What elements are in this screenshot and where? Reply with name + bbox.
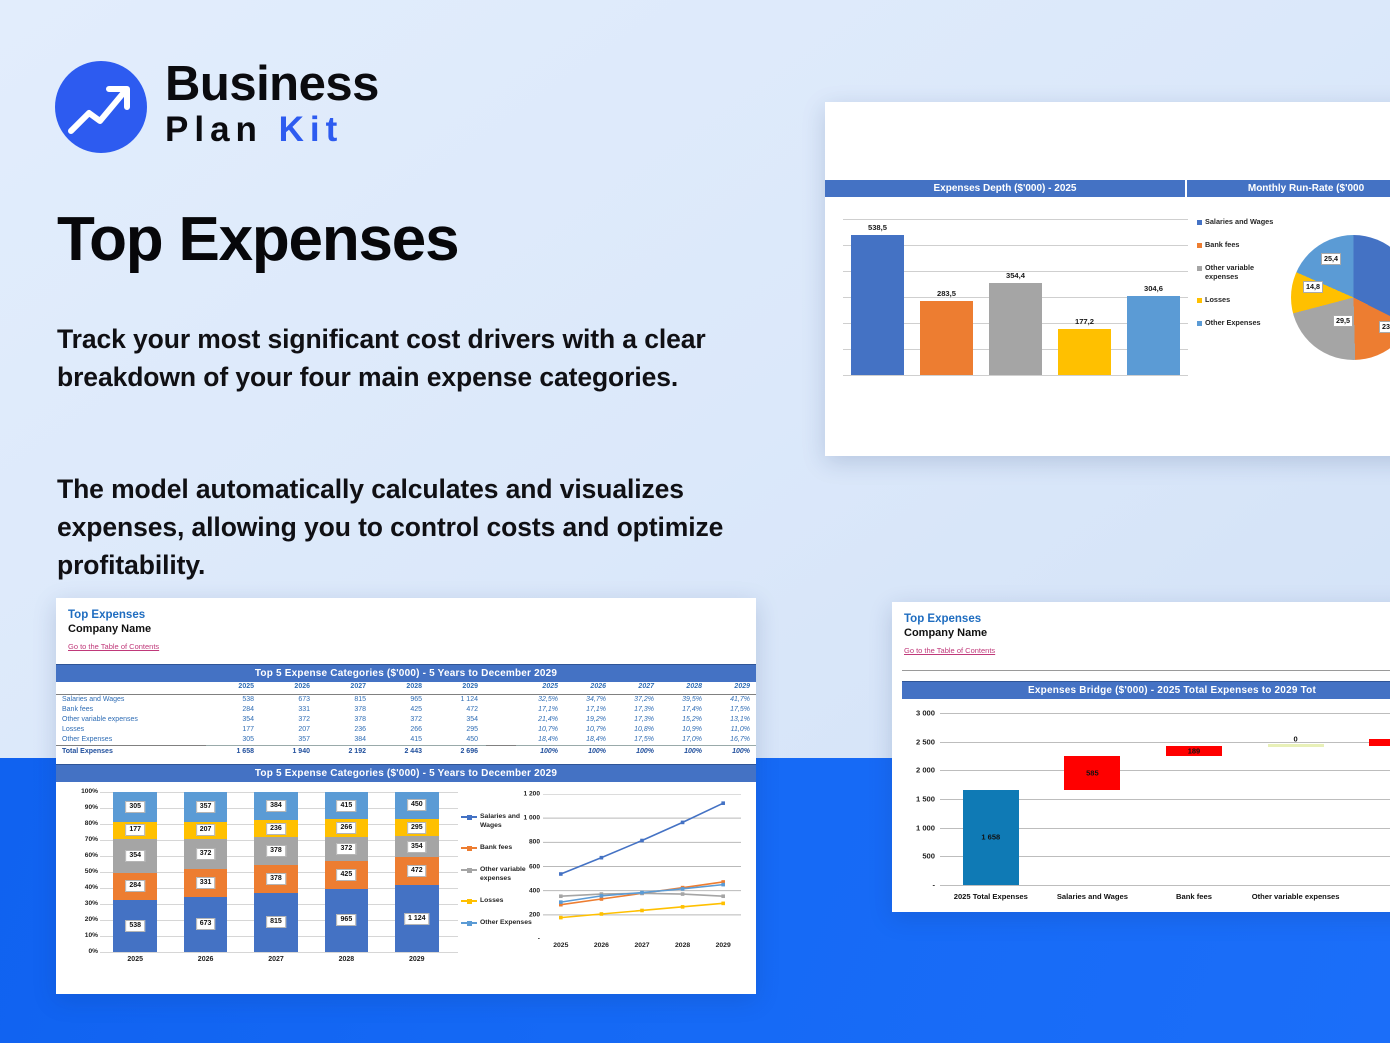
trending-up-arrow-icon bbox=[55, 61, 147, 153]
cell-value: 372 bbox=[374, 715, 430, 725]
chart-monthly-run-rate-pie: 2329,514,825,4 bbox=[1291, 235, 1390, 360]
stacked-column-2026: 3572073723316732026 bbox=[184, 792, 228, 952]
legend-label: Bank fees bbox=[1205, 240, 1239, 249]
legend-swatch bbox=[1197, 266, 1202, 271]
waterfall-bar-2: 189 bbox=[1166, 746, 1222, 757]
cell-pct: 17,1% bbox=[564, 705, 612, 715]
table-row: Bank fees28433137842547217,1%17,1%17,3%1… bbox=[56, 705, 756, 715]
bar-value-label: 189 bbox=[1166, 746, 1222, 755]
cell-value: 378 bbox=[318, 705, 374, 715]
brand-name-line2: Plan Kit bbox=[165, 110, 379, 150]
cell-value: 354 bbox=[430, 715, 486, 725]
segment-value-label: 472 bbox=[407, 865, 427, 877]
cell-pct: 16,7% bbox=[708, 735, 756, 745]
panelA-band-row: Expenses Depth ($'000) - 2025 Monthly Ru… bbox=[825, 180, 1390, 197]
gridline bbox=[100, 952, 458, 953]
x-axis-tick: 2029 bbox=[716, 942, 731, 949]
cell-value: 425 bbox=[374, 705, 430, 715]
cell-pct: 39,5% bbox=[660, 694, 708, 704]
cell-value: 815 bbox=[318, 694, 374, 704]
cell-value: 236 bbox=[318, 725, 374, 735]
bar-value-label: 538,5 bbox=[851, 223, 905, 232]
legend-label: Other Expenses bbox=[1205, 318, 1261, 327]
table-row: Other variable expenses35437237837235421… bbox=[56, 715, 756, 725]
gridline bbox=[940, 770, 1390, 771]
segment-value-label: 384 bbox=[266, 800, 286, 812]
waterfall-plot-area: 3 0002 5002 0001 5001 000500-1 6582025 T… bbox=[940, 713, 1390, 888]
pie-slice-label: 23 bbox=[1379, 321, 1390, 333]
col-header-year-pct: 2027 bbox=[612, 682, 660, 694]
stack-segment: 1 124 bbox=[395, 885, 439, 952]
cell-pct: 18,4% bbox=[564, 735, 612, 745]
table-row: Salaries and Wages5386738159651 12432,5%… bbox=[56, 694, 756, 704]
sheet-title: Top Expenses bbox=[68, 608, 756, 622]
sheet-header-c: Top Expenses Company Name Go to the Tabl… bbox=[892, 602, 1390, 658]
bar-losses: 177,2 bbox=[1058, 329, 1112, 375]
col-header-year: 2027 bbox=[318, 682, 374, 694]
cell-pct: 17,3% bbox=[612, 705, 660, 715]
chart-stacked-100-percent: 100%90%80%70%60%50%40%30%20%10%0%3051773… bbox=[68, 792, 458, 972]
stack-segment: 538 bbox=[113, 900, 157, 952]
cell-pct: 17,3% bbox=[612, 715, 660, 725]
y-axis-tick: 30% bbox=[68, 900, 98, 907]
y-axis-tick: 70% bbox=[68, 836, 98, 843]
legend-swatch bbox=[1197, 243, 1202, 248]
pie-slice-label: 25,4 bbox=[1321, 253, 1341, 265]
legend-item: Losses bbox=[1197, 295, 1282, 304]
row-label: Losses bbox=[56, 725, 206, 735]
stacked-column-2029: 4502953544721 1242029 bbox=[395, 792, 439, 952]
bar-bank-fees: 283,5 bbox=[920, 301, 974, 375]
band-chart-title: Top 5 Expense Categories ($'000) - 5 Yea… bbox=[56, 764, 756, 782]
stacked-column-2028: 4152663724259652028 bbox=[325, 792, 369, 952]
panel-expenses-bridge: Top Expenses Company Name Go to the Tabl… bbox=[892, 602, 1390, 912]
legend-item: Other Expenses bbox=[461, 918, 541, 927]
gridline bbox=[843, 219, 1188, 220]
cell-value: 177 bbox=[206, 725, 262, 735]
segment-value-label: 354 bbox=[125, 850, 145, 862]
x-axis-tick: 2026 bbox=[594, 942, 609, 949]
cell-total: 2 443 bbox=[374, 745, 430, 756]
segment-value-label: 177 bbox=[125, 824, 145, 836]
table-header-row: 2025202620272028202920252026202720282029 bbox=[56, 682, 756, 694]
cell-total-pct: 100% bbox=[708, 745, 756, 756]
x-axis-tick: 2028 bbox=[675, 942, 690, 949]
cell-pct: 17,5% bbox=[708, 705, 756, 715]
bar-value-label: 177,2 bbox=[1058, 317, 1112, 326]
cell-value: 450 bbox=[430, 735, 486, 745]
stack-segment: 384 bbox=[254, 792, 298, 820]
legend-item: Other Expenses bbox=[1197, 318, 1282, 327]
segment-value-label: 372 bbox=[196, 848, 216, 860]
segment-value-label: 305 bbox=[125, 801, 145, 813]
legend-swatch bbox=[1197, 321, 1202, 326]
y-axis-tick: 1 000 bbox=[916, 823, 935, 832]
cell-total-pct: 100% bbox=[612, 745, 660, 756]
bar-value-label: 1 bbox=[1369, 738, 1390, 747]
legend-label: Other variable expenses bbox=[1205, 263, 1282, 281]
cell-value: 331 bbox=[262, 705, 318, 715]
x-axis-tick: Bank fees bbox=[1176, 892, 1212, 901]
cell-value: 357 bbox=[262, 735, 318, 745]
band-monthly-run-rate: Monthly Run-Rate ($'000 bbox=[1185, 180, 1390, 197]
cell-value: 207 bbox=[262, 725, 318, 735]
legend-label: Other Expenses bbox=[480, 918, 532, 927]
cell-pct: 11,0% bbox=[708, 725, 756, 735]
legend-item: Other variable expenses bbox=[1197, 263, 1282, 281]
legend-line bbox=[461, 922, 477, 924]
stack-segment: 472 bbox=[395, 857, 439, 885]
bar-other-variable-expenses: 354,4 bbox=[989, 283, 1043, 375]
segment-value-label: 425 bbox=[337, 869, 357, 881]
gridline bbox=[940, 713, 1390, 714]
y-axis-tick: 90% bbox=[68, 804, 98, 811]
cell-total-pct: 100% bbox=[660, 745, 708, 756]
stack-segment: 378 bbox=[254, 837, 298, 865]
col-header-year: 2026 bbox=[262, 682, 318, 694]
stack-segment: 207 bbox=[184, 822, 228, 839]
y-axis-tick: 10% bbox=[68, 932, 98, 939]
axis-line bbox=[843, 375, 1188, 376]
cell-total-pct: 100% bbox=[564, 745, 612, 756]
segment-value-label: 815 bbox=[266, 916, 286, 928]
brand-kit-word: Kit bbox=[279, 110, 344, 149]
cell-value: 965 bbox=[374, 694, 430, 704]
y-axis-tick: - bbox=[932, 881, 935, 890]
cell-pct: 41,7% bbox=[708, 694, 756, 704]
y-axis-tick: 500 bbox=[922, 852, 935, 861]
cell-pct: 17,5% bbox=[612, 735, 660, 745]
stack-segment: 354 bbox=[113, 839, 157, 873]
chart-line-trend: Salaries and WagesBank feesOther variabl… bbox=[461, 792, 743, 982]
bar-value-label: 304,6 bbox=[1127, 284, 1181, 293]
x-axis-tick: 2028 bbox=[325, 956, 369, 963]
hero-paragraph-2: The model automatically calculates and v… bbox=[57, 470, 727, 584]
segment-value-label: 207 bbox=[196, 824, 216, 836]
col-header-year: 2025 bbox=[206, 682, 262, 694]
x-axis-tick: 2025 bbox=[553, 942, 568, 949]
y-axis-tick: 2 500 bbox=[916, 737, 935, 746]
segment-value-label: 378 bbox=[266, 873, 286, 885]
col-header-year-pct: 2026 bbox=[564, 682, 612, 694]
segment-value-label: 357 bbox=[196, 801, 216, 813]
cell-value: 378 bbox=[318, 715, 374, 725]
y-axis-tick: 20% bbox=[68, 916, 98, 923]
cell-total: 1 940 bbox=[262, 745, 318, 756]
waterfall-bar-0: 1 658 bbox=[963, 790, 1019, 885]
cell-total: 2 696 bbox=[430, 745, 486, 756]
sheet-header: Top Expenses Company Name Go to the Tabl… bbox=[56, 598, 756, 654]
waterfall-bar-4: 1 bbox=[1369, 739, 1390, 746]
cell-pct: 17,4% bbox=[660, 705, 708, 715]
y-axis-tick: 100% bbox=[68, 788, 98, 795]
table-row: Losses17720723626629510,7%10,7%10,8%10,9… bbox=[56, 725, 756, 735]
segment-value-label: 295 bbox=[407, 822, 427, 834]
cell-value: 415 bbox=[374, 735, 430, 745]
y-axis-tick: 1 000 bbox=[523, 815, 540, 822]
table-total-row: Total Expenses1 6581 9402 1922 4432 6961… bbox=[56, 745, 756, 756]
bar-value-label: 1 658 bbox=[963, 833, 1019, 842]
cell-value: 354 bbox=[206, 715, 262, 725]
row-label: Salaries and Wages bbox=[56, 694, 206, 704]
x-axis-tick: 2027 bbox=[254, 956, 298, 963]
cell-value: 673 bbox=[262, 694, 318, 704]
bar-other-expenses: 304,6 bbox=[1127, 296, 1181, 375]
stacked-column-2027: 3842363783788152027 bbox=[254, 792, 298, 952]
cell-pct: 18,4% bbox=[516, 735, 564, 745]
cell-pct: 34,7% bbox=[564, 694, 612, 704]
segment-value-label: 1 124 bbox=[404, 913, 430, 925]
cell-total: 2 192 bbox=[318, 745, 374, 756]
bar-value-label: 354,4 bbox=[989, 271, 1043, 280]
col-header-year-pct: 2028 bbox=[660, 682, 708, 694]
legend-line bbox=[461, 869, 477, 871]
stack-segment: 266 bbox=[325, 819, 369, 836]
legend-label: Losses bbox=[1205, 295, 1230, 304]
cell-pct: 13,1% bbox=[708, 715, 756, 725]
y-axis-tick: 50% bbox=[68, 868, 98, 875]
y-axis-tick: 3 000 bbox=[916, 709, 935, 718]
legend-swatch bbox=[1197, 298, 1202, 303]
bar-plot-area: 538,5283,5354,4177,2304,6 bbox=[843, 219, 1188, 375]
x-axis-tick: 2027 bbox=[634, 942, 649, 949]
waterfall-bar-1: 585 bbox=[1064, 756, 1120, 790]
y-axis-tick: 80% bbox=[68, 820, 98, 827]
cell-value: 1 124 bbox=[430, 694, 486, 704]
gridline bbox=[940, 885, 1390, 886]
sheet-company-name: Company Name bbox=[68, 622, 756, 636]
y-axis-tick: 1 200 bbox=[523, 791, 540, 798]
cell-value: 538 bbox=[206, 694, 262, 704]
cell-pct: 10,7% bbox=[516, 725, 564, 735]
segment-value-label: 538 bbox=[125, 920, 145, 932]
cell-total-pct: 100% bbox=[516, 745, 564, 756]
chart-legend: Salaries and WagesBank feesOther variabl… bbox=[1197, 217, 1282, 341]
stack-segment: 965 bbox=[325, 889, 369, 952]
x-axis-tick: 2029 bbox=[395, 956, 439, 963]
band-expenses-bridge: Expenses Bridge ($'000) - 2025 Total Exp… bbox=[902, 681, 1390, 699]
col-header-year-pct: 2029 bbox=[708, 682, 756, 694]
y-axis-tick: 200 bbox=[529, 911, 540, 918]
stack-segment: 284 bbox=[113, 873, 157, 900]
y-axis-tick: 0% bbox=[68, 948, 98, 955]
x-axis-tick: 2025 bbox=[113, 956, 157, 963]
pie-slice-label: 14,8 bbox=[1303, 281, 1323, 293]
chart-expenses-depth-2025: 538,5283,5354,4177,2304,6 Salaries and W… bbox=[825, 207, 1390, 387]
expense-table: 2025202620272028202920252026202720282029… bbox=[56, 682, 756, 756]
cell-pct: 21,4% bbox=[516, 715, 564, 725]
stack-segment: 305 bbox=[113, 792, 157, 821]
stack-segment: 378 bbox=[254, 865, 298, 893]
segment-value-label: 266 bbox=[337, 822, 357, 834]
cell-total: 1 658 bbox=[206, 745, 262, 756]
col-header-year: 2028 bbox=[374, 682, 430, 694]
cell-pct: 17,0% bbox=[660, 735, 708, 745]
col-header-year: 2029 bbox=[430, 682, 486, 694]
charts-row: 100%90%80%70%60%50%40%30%20%10%0%3051773… bbox=[56, 782, 756, 994]
stack-segment: 450 bbox=[395, 792, 439, 819]
cell-value: 372 bbox=[262, 715, 318, 725]
legend-label: Losses bbox=[480, 896, 503, 905]
stack-segment: 372 bbox=[325, 837, 369, 861]
stack-segment: 415 bbox=[325, 792, 369, 819]
panel-top-5-expense-categories: Top Expenses Company Name Go to the Tabl… bbox=[56, 598, 756, 994]
cell-value: 284 bbox=[206, 705, 262, 715]
stack-segment: 236 bbox=[254, 820, 298, 837]
brand-logo: Business Plan Kit bbox=[55, 58, 475, 158]
table-row: Other Expenses30535738441545018,4%18,4%1… bbox=[56, 735, 756, 745]
bar-value-label: 0 bbox=[1268, 735, 1324, 744]
line-plot-area: 1 2001 000800600400200-20252026202720282… bbox=[543, 794, 741, 969]
cell-pct: 10,8% bbox=[612, 725, 660, 735]
stack-segment: 295 bbox=[395, 819, 439, 837]
segment-value-label: 415 bbox=[337, 800, 357, 812]
sheet-company-name-c: Company Name bbox=[904, 626, 1390, 640]
y-axis-tick: - bbox=[538, 936, 540, 943]
line-chart-legend: Salaries and WagesBank feesOther variabl… bbox=[461, 812, 541, 940]
pie-slice-label: 29,5 bbox=[1333, 315, 1353, 327]
segment-value-label: 331 bbox=[196, 877, 216, 889]
cell-pct: 10,9% bbox=[660, 725, 708, 735]
stack-segment: 177 bbox=[113, 822, 157, 839]
cell-value: 295 bbox=[430, 725, 486, 735]
line-chart-svg bbox=[543, 794, 741, 939]
chart-expenses-bridge: 3 0002 5002 0001 5001 000500-1 6582025 T… bbox=[892, 705, 1390, 912]
segment-value-label: 673 bbox=[196, 918, 216, 930]
stack-segment: 354 bbox=[395, 836, 439, 857]
x-axis-tick: 2025 Total Expenses bbox=[954, 892, 1028, 901]
table-of-contents-link[interactable]: Go to the Table of Contents bbox=[68, 642, 159, 651]
y-axis-tick: 400 bbox=[529, 887, 540, 894]
legend-line bbox=[461, 816, 477, 818]
stack-segment: 331 bbox=[184, 869, 228, 896]
cell-pct: 32,5% bbox=[516, 694, 564, 704]
bar-salaries-and-wages: 538,5 bbox=[851, 235, 905, 375]
stack-segment: 425 bbox=[325, 861, 369, 889]
brand-name-line1: Business bbox=[165, 58, 379, 110]
stack-segment: 673 bbox=[184, 897, 228, 953]
cell-pct: 10,7% bbox=[564, 725, 612, 735]
segment-value-label: 284 bbox=[125, 880, 145, 892]
band-table-title: Top 5 Expense Categories ($'000) - 5 Yea… bbox=[56, 664, 756, 682]
cell-value: 266 bbox=[374, 725, 430, 735]
divider bbox=[902, 670, 1390, 671]
y-axis-tick: 2 000 bbox=[916, 766, 935, 775]
cell-pct: 17,1% bbox=[516, 705, 564, 715]
row-label: Bank fees bbox=[56, 705, 206, 715]
segment-value-label: 965 bbox=[337, 914, 357, 926]
y-axis-tick: 800 bbox=[529, 839, 540, 846]
y-axis-tick: 1 500 bbox=[916, 795, 935, 804]
hero-paragraph-1: Track your most significant cost drivers… bbox=[57, 320, 727, 396]
legend-line bbox=[461, 900, 477, 902]
legend-label: Salaries and Wages bbox=[1205, 217, 1273, 226]
segment-value-label: 378 bbox=[266, 845, 286, 857]
cell-pct: 19,2% bbox=[564, 715, 612, 725]
brand-plan-word: Plan bbox=[165, 110, 263, 149]
cell-value: 472 bbox=[430, 705, 486, 715]
panel-expenses-depth: Expenses Depth ($'000) - 2025 Monthly Ru… bbox=[825, 102, 1390, 456]
cell-value: 305 bbox=[206, 735, 262, 745]
cell-value: 384 bbox=[318, 735, 374, 745]
legend-label: Bank fees bbox=[480, 843, 512, 852]
stacked-column-2025: 3051773542845382025 bbox=[113, 792, 157, 952]
stack-segment: 357 bbox=[184, 792, 228, 821]
x-axis-tick: Other variable expenses bbox=[1252, 892, 1340, 901]
segment-value-label: 450 bbox=[407, 799, 427, 811]
waterfall-bar-3: 0 bbox=[1268, 744, 1324, 747]
row-label: Other Expenses bbox=[56, 735, 206, 745]
cell-pct: 15,2% bbox=[660, 715, 708, 725]
segment-value-label: 236 bbox=[266, 823, 286, 835]
y-axis-tick: 600 bbox=[529, 863, 540, 870]
stack-segment: 372 bbox=[184, 839, 228, 870]
x-axis-tick: Salaries and Wages bbox=[1057, 892, 1128, 901]
bar-value-label: 585 bbox=[1064, 769, 1120, 778]
stack-segment: 815 bbox=[254, 893, 298, 953]
y-axis-tick: 60% bbox=[68, 852, 98, 859]
bar-value-label: 283,5 bbox=[920, 289, 974, 298]
cell-pct: 37,2% bbox=[612, 694, 660, 704]
row-label: Total Expenses bbox=[56, 745, 206, 756]
x-axis-tick: 2026 bbox=[184, 956, 228, 963]
legend-swatch bbox=[1197, 220, 1202, 225]
page-title: Top Expenses bbox=[57, 205, 697, 275]
col-header-year-pct: 2025 bbox=[516, 682, 564, 694]
segment-value-label: 372 bbox=[337, 843, 357, 855]
legend-item: Salaries and Wages bbox=[1197, 217, 1282, 226]
legend-line bbox=[461, 847, 477, 849]
band-expenses-depth: Expenses Depth ($'000) - 2025 bbox=[825, 180, 1185, 197]
segment-value-label: 354 bbox=[407, 841, 427, 853]
sheet-title-c: Top Expenses bbox=[904, 612, 1390, 626]
legend-item: Bank fees bbox=[1197, 240, 1282, 249]
y-axis-tick: 40% bbox=[68, 884, 98, 891]
legend-item: Losses bbox=[461, 896, 541, 905]
table-of-contents-link-c[interactable]: Go to the Table of Contents bbox=[904, 646, 995, 655]
row-label: Other variable expenses bbox=[56, 715, 206, 725]
